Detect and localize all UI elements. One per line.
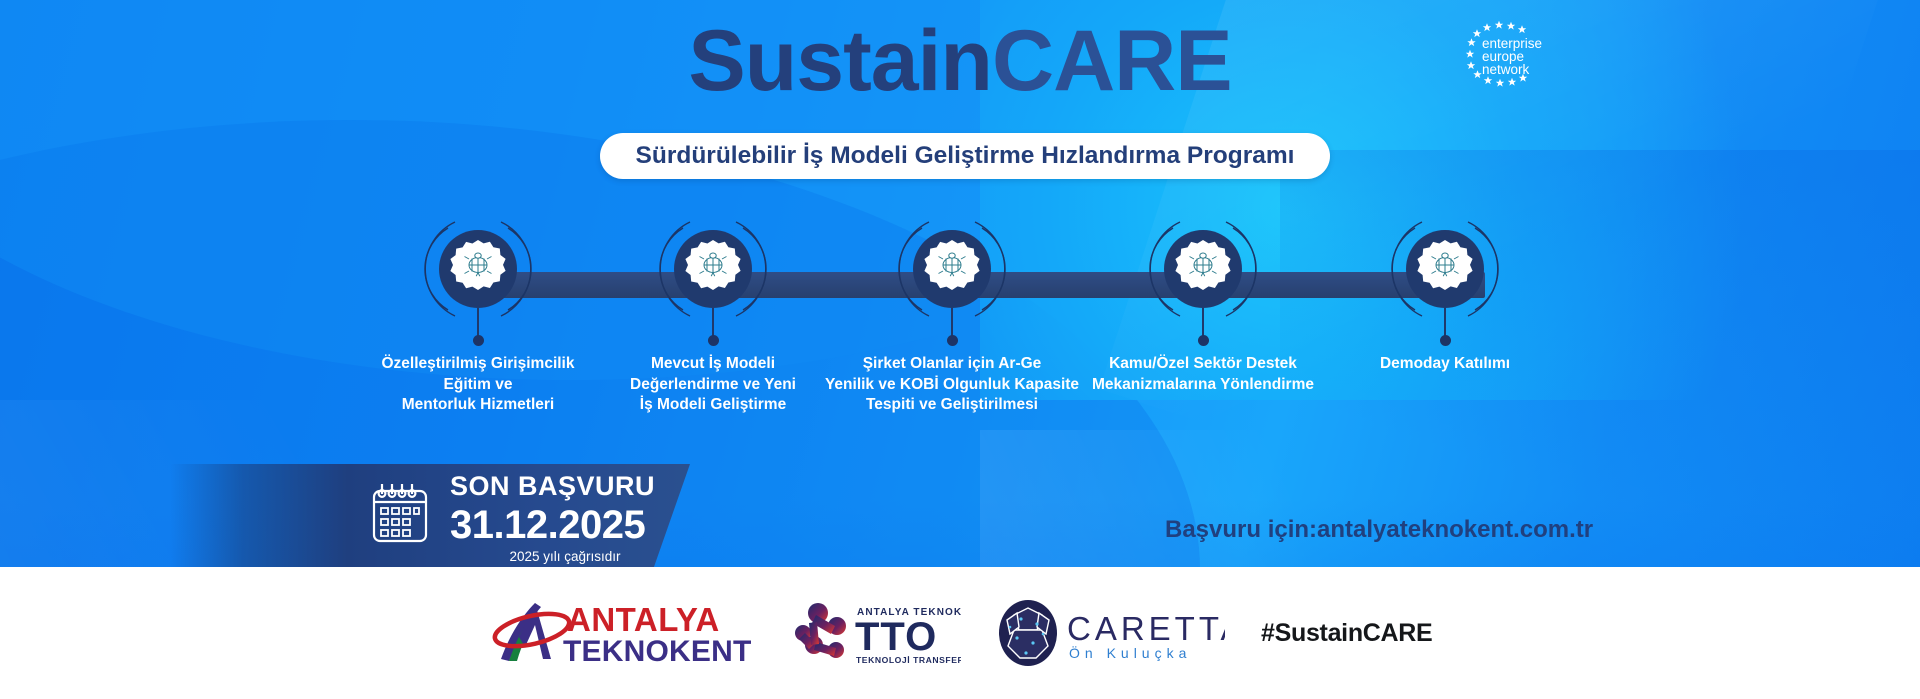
deadline-date: 31.12.2025 bbox=[450, 503, 680, 547]
footer-logo-bar: ANTALYA TEKNOKENT bbox=[0, 567, 1920, 699]
node-gear-badge-1 bbox=[439, 230, 517, 308]
teknokent-word: TEKNOKENT bbox=[563, 635, 751, 668]
gear-turtle-icon bbox=[1171, 237, 1235, 301]
node-gear-badge-4 bbox=[1164, 230, 1242, 308]
hashtag-sustaincare[interactable]: #SustainCARE bbox=[1261, 603, 1431, 663]
antalya-teknokent-logo[interactable]: ANTALYA TEKNOKENT bbox=[489, 597, 759, 669]
node-dot-5 bbox=[1440, 335, 1451, 346]
gear-turtle-icon bbox=[920, 237, 984, 301]
node-dot-3 bbox=[947, 335, 958, 346]
tto-logo[interactable]: ANTALYA TEKNOKENT TTO TEKNOLOJİ TRANSFER… bbox=[795, 598, 961, 668]
timeline-node-3[interactable]: Şirket Olanlar için Ar-GeYenilik ve KOBİ… bbox=[877, 228, 1027, 418]
timeline-node-label-5: Demoday Katılımı bbox=[1285, 354, 1605, 375]
svg-text:network: network bbox=[1482, 62, 1530, 77]
timeline-node-2[interactable]: Mevcut İş ModeliDeğerlendirme ve Yeniİş … bbox=[638, 228, 788, 418]
deadline-note: 2025 yılı çağrısıdır bbox=[450, 549, 680, 564]
antalya-word: ANTALYA bbox=[567, 601, 720, 638]
hashtag-text: #SustainCARE bbox=[1261, 619, 1432, 648]
tto-main-word: TTO bbox=[855, 615, 937, 659]
sustaincare-promo-banner: SustainCARE Sürdürülebilir İş Modeli Gel… bbox=[0, 0, 1920, 699]
node-gear-badge-5 bbox=[1406, 230, 1484, 308]
caretta-sub-word: Ön Kuluçka bbox=[1069, 644, 1191, 661]
page-title: SustainCARE bbox=[0, 18, 1920, 104]
caretta-logo[interactable]: CARETTA Ön Kuluçka bbox=[997, 598, 1225, 668]
antalya-teknokent-icon: ANTALYA TEKNOKENT bbox=[489, 597, 759, 669]
timeline-node-5[interactable]: Demoday Katılımı bbox=[1370, 228, 1520, 418]
node-dot-2 bbox=[708, 335, 719, 346]
tto-bottom-line: TEKNOLOJİ TRANSFER OFİSİ bbox=[856, 655, 961, 665]
calendar-icon bbox=[370, 480, 430, 546]
enterprise-europe-network-logo: enterprise europe network bbox=[1452, 14, 1558, 92]
gear-turtle-icon bbox=[681, 237, 745, 301]
gear-turtle-icon bbox=[1413, 237, 1477, 301]
subtitle-pill: Sürdürülebilir İş Modeli Geliştirme Hızl… bbox=[600, 133, 1330, 179]
title-sustain: Sustain bbox=[688, 13, 992, 109]
deadline-banner: SON BAŞVURU 31.12.2025 2025 yılı çağrısı… bbox=[170, 464, 690, 568]
node-stem-1 bbox=[477, 308, 479, 338]
node-dot-4 bbox=[1198, 335, 1209, 346]
apply-url-text[interactable]: Başvuru için:antalyateknokent.com.tr bbox=[1165, 516, 1593, 544]
program-timeline: Özelleştirilmiş GirişimcilikEğitim veMen… bbox=[0, 228, 1920, 418]
node-stem-5 bbox=[1444, 308, 1446, 338]
node-stem-3 bbox=[951, 308, 953, 338]
node-gear-badge-3 bbox=[913, 230, 991, 308]
caretta-main-word: CARETTA bbox=[1067, 610, 1225, 647]
deadline-text-block: SON BAŞVURU 31.12.2025 2025 yılı çağrısı… bbox=[450, 472, 680, 564]
node-dot-1 bbox=[473, 335, 484, 346]
deadline-label: SON BAŞVURU bbox=[450, 472, 680, 502]
node-gear-badge-2 bbox=[674, 230, 752, 308]
subtitle-text: Sürdürülebilir İş Modeli Geliştirme Hızl… bbox=[636, 142, 1295, 170]
title-care: CARE bbox=[992, 13, 1232, 109]
caretta-icon: CARETTA Ön Kuluçka bbox=[997, 598, 1225, 668]
een-icon: enterprise europe network bbox=[1452, 14, 1558, 92]
node-stem-4 bbox=[1202, 308, 1204, 338]
timeline-node-1[interactable]: Özelleştirilmiş GirişimcilikEğitim veMen… bbox=[403, 228, 553, 418]
node-stem-2 bbox=[712, 308, 714, 338]
timeline-node-4[interactable]: Kamu/Özel Sektör DestekMekanizmalarına Y… bbox=[1128, 228, 1278, 418]
gear-turtle-icon bbox=[446, 237, 510, 301]
tto-icon: ANTALYA TEKNOKENT TTO TEKNOLOJİ TRANSFER… bbox=[795, 598, 961, 668]
